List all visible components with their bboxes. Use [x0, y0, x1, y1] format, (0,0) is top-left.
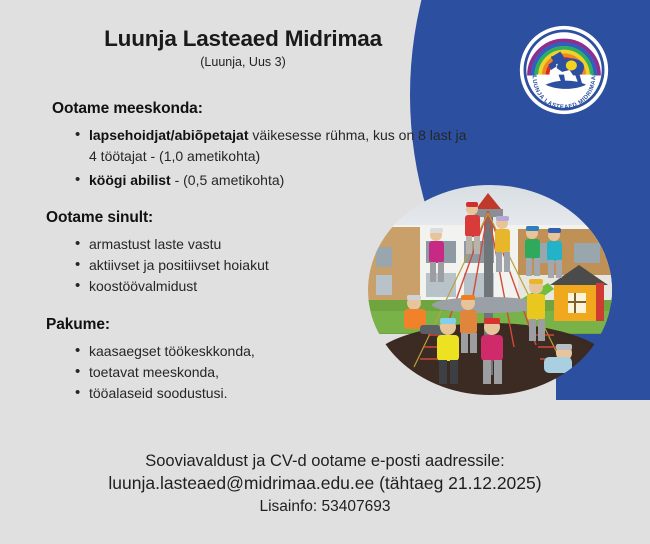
bullet-text: koostöövalmidust — [89, 278, 197, 294]
bullet-text: toetavat meeskonda, — [89, 364, 219, 380]
list-item: köögi abilist - (0,5 ametikohta) — [75, 170, 470, 191]
bullet-bold-text: lapsehoidjat/abiõpetajat — [89, 127, 248, 143]
list-item: lapsehoidjat/abiõpetajat väikesesse rühm… — [75, 125, 470, 168]
footer-phone-line[interactable]: Lisainfo: 53407693 — [0, 496, 650, 518]
logo-emblem-icon: LUUNJA LASTEAED MIDRIMAA — [518, 24, 610, 116]
list-item: kaasaegset töökeskkonda, — [75, 341, 470, 362]
section-team: Ootame meeskonda: lapsehoidjat/abiõpetaj… — [0, 100, 470, 191]
page-title: Luunja Lasteaed Midrimaa — [0, 26, 486, 52]
footer-application-line: Sooviavaldust ja CV-d ootame e-posti aad… — [0, 450, 650, 472]
poster-content: Ootame meeskonda: lapsehoidjat/abiõpetaj… — [0, 100, 470, 406]
bullet-text: - (0,5 ametikohta) — [171, 172, 285, 188]
list-item: koostöövalmidust — [75, 276, 470, 297]
section-heading-team: Ootame meeskonda: — [52, 100, 470, 118]
footer-email-line[interactable]: luunja.lasteaed@midrimaa.edu.ee (tähtaeg… — [0, 472, 650, 496]
section-heading-offer: Pakume: — [46, 316, 470, 334]
bullet-list-offer: kaasaegset töökeskkonda, toetavat meesko… — [0, 341, 470, 405]
section-expectations: Ootame sinult: armastust laste vastu akt… — [0, 209, 470, 298]
bullet-text: aktiivset ja positiivset hoiakut — [89, 257, 269, 273]
job-posting-poster: LUUNJA LASTEAED MIDRIMAA Luunja Lasteaed… — [0, 0, 650, 544]
bullet-text: kaasaegset töökeskkonda, — [89, 343, 255, 359]
bullet-list-expectations: armastust laste vastu aktiivset ja posit… — [0, 234, 470, 298]
contact-footer: Sooviavaldust ja CV-d ootame e-posti aad… — [0, 450, 650, 518]
bullet-text: armastust laste vastu — [89, 236, 221, 252]
luunja-lasteaed-midrimaa-logo: LUUNJA LASTEAED MIDRIMAA — [518, 24, 610, 116]
poster-header: Luunja Lasteaed Midrimaa (Luunja, Uus 3) — [0, 26, 486, 70]
list-item: toetavat meeskonda, — [75, 362, 470, 383]
list-item: armastust laste vastu — [75, 234, 470, 255]
bullet-list-team: lapsehoidjat/abiõpetajat väikesesse rühm… — [0, 125, 470, 191]
list-item: tööalaseid soodustusi. — [75, 383, 470, 404]
page-subtitle: (Luunja, Uus 3) — [0, 55, 486, 70]
bullet-bold-text: köögi abilist — [89, 172, 171, 188]
bullet-text: tööalaseid soodustusi. — [89, 385, 228, 401]
section-offer: Pakume: kaasaegset töökeskkonda, toetava… — [0, 316, 470, 405]
list-item: aktiivset ja positiivset hoiakut — [75, 255, 470, 276]
section-heading-expectations: Ootame sinult: — [46, 209, 470, 227]
